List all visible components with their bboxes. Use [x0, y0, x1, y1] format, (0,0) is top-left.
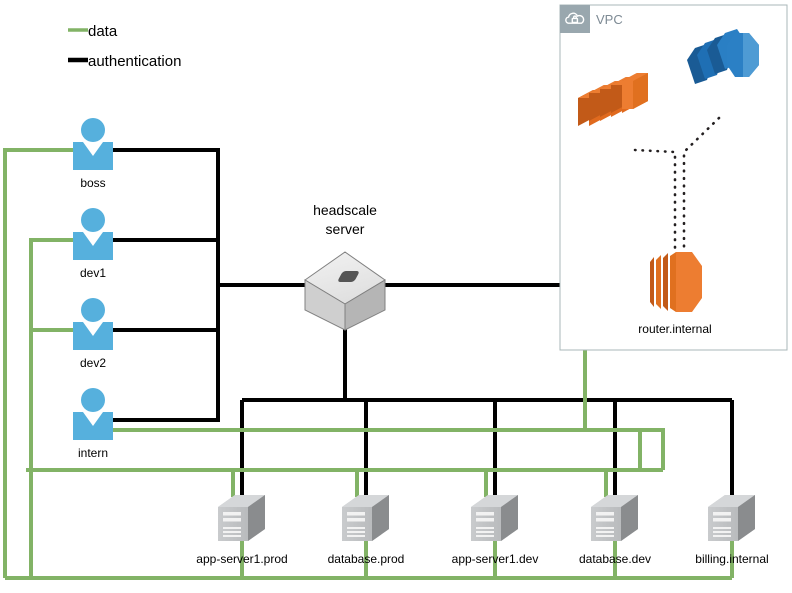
server-label: database.dev — [579, 552, 651, 566]
vpc-node-label-router: router.internal — [638, 322, 711, 336]
server-node-billing-internal[interactable]: billing.internal — [695, 495, 768, 566]
server-node-app-server1-dev[interactable]: app-server1.dev — [452, 495, 539, 566]
diagram-svg: VPC — [0, 0, 792, 593]
user-node-boss[interactable]: boss — [73, 118, 113, 190]
cube-server-icon — [305, 252, 385, 330]
server-icon — [708, 495, 755, 541]
user-icon — [73, 208, 113, 260]
vpc-label: VPC — [596, 12, 623, 27]
aws-router-hex-icon — [650, 252, 702, 312]
user-icon — [73, 298, 113, 350]
user-node-dev2[interactable]: dev2 — [73, 298, 113, 370]
legend-item-authentication: authentication — [68, 53, 181, 70]
server-label: app-server1.dev — [452, 552, 539, 566]
legend-label: data — [88, 23, 118, 40]
user-icon — [73, 388, 113, 440]
legend-label: authentication — [88, 53, 181, 70]
user-label: intern — [78, 446, 108, 460]
headscale-label-line1: headscale — [313, 202, 377, 218]
user-icon — [73, 118, 113, 170]
server-node-database-prod[interactable]: database.prod — [328, 495, 405, 566]
user-label: dev1 — [80, 266, 106, 280]
user-label: dev2 — [80, 356, 106, 370]
user-node-dev1[interactable]: dev1 — [73, 208, 113, 280]
server-icon — [218, 495, 265, 541]
legend-item-data: data — [68, 23, 118, 40]
server-icon — [342, 495, 389, 541]
legend: data authentication — [68, 23, 181, 70]
user-node-intern[interactable]: intern — [73, 388, 113, 460]
network-diagram-canvas: VPC — [0, 0, 792, 593]
headscale-label-line2: server — [326, 221, 365, 237]
server-node-database-dev[interactable]: database.dev — [579, 495, 651, 566]
server-node-app-server1-prod[interactable]: app-server1.prod — [196, 495, 287, 566]
server-label: billing.internal — [695, 552, 768, 566]
server-label: database.prod — [328, 552, 405, 566]
server-icon — [591, 495, 638, 541]
server-icon — [471, 495, 518, 541]
server-label: app-server1.prod — [196, 552, 287, 566]
user-label: boss — [80, 176, 105, 190]
